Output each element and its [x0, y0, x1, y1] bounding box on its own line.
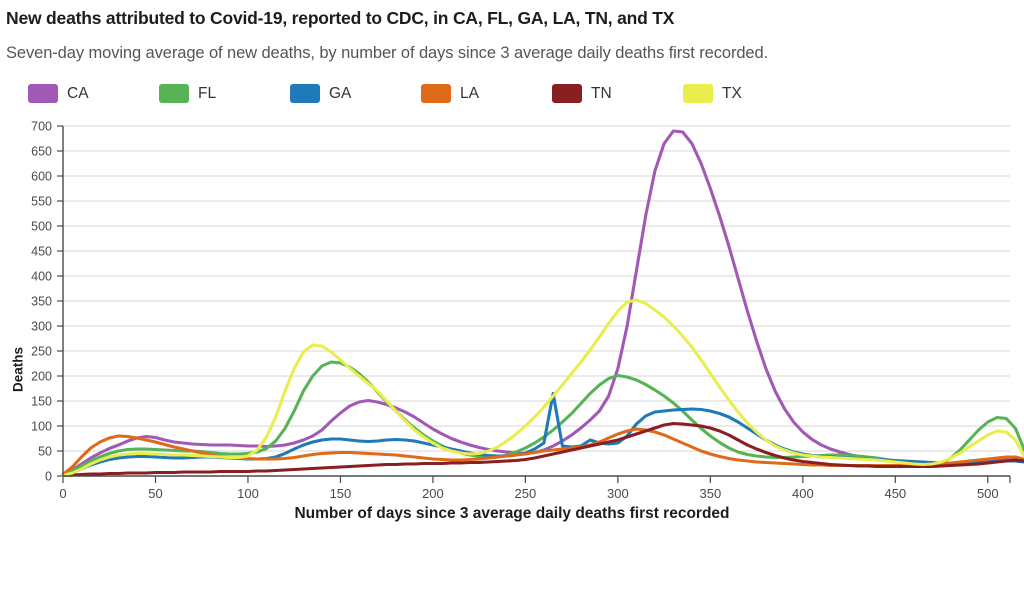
legend-item-tn[interactable]: TN	[552, 84, 683, 103]
legend-swatch-icon	[683, 84, 713, 103]
legend-item-label: TN	[591, 85, 612, 103]
legend-item-label: CA	[67, 85, 89, 103]
line-chart: 0501001502002503003504004505005506006507…	[0, 110, 1024, 510]
legend-item-label: FL	[198, 85, 216, 103]
legend-item-ga[interactable]: GA	[290, 84, 421, 103]
x-tick-label: 350	[700, 486, 722, 501]
chart-page: New deaths attributed to Covid-19, repor…	[0, 0, 1024, 591]
y-tick-label: 100	[31, 420, 52, 434]
y-tick-label: 200	[31, 370, 52, 384]
y-tick-label: 50	[38, 445, 52, 459]
y-tick-label: 650	[31, 145, 52, 159]
y-tick-label: 300	[31, 320, 52, 334]
legend-item-label: LA	[460, 85, 479, 103]
y-tick-label: 600	[31, 170, 52, 184]
page-title: New deaths attributed to Covid-19, repor…	[6, 8, 674, 29]
y-tick-label: 400	[31, 270, 52, 284]
legend-item-tx[interactable]: TX	[683, 84, 814, 103]
y-axis-title: Deaths	[11, 330, 26, 410]
legend-swatch-icon	[159, 84, 189, 103]
legend-swatch-icon	[552, 84, 582, 103]
x-tick-label: 100	[237, 486, 259, 501]
x-axis-title: Number of days since 3 average daily dea…	[0, 505, 1024, 523]
x-tick-label: 50	[148, 486, 162, 501]
chart-legend: CAFLGALATNTX	[28, 84, 814, 103]
x-tick-label: 0	[59, 486, 66, 501]
legend-swatch-icon	[28, 84, 58, 103]
y-tick-label: 450	[31, 245, 52, 259]
x-tick-label: 500	[977, 486, 999, 501]
page-subtitle: Seven-day moving average of new deaths, …	[6, 44, 768, 63]
x-tick-label: 250	[515, 486, 537, 501]
x-tick-label: 300	[607, 486, 629, 501]
x-tick-label: 400	[792, 486, 814, 501]
y-tick-label: 0	[45, 470, 52, 484]
legend-item-la[interactable]: LA	[421, 84, 552, 103]
legend-swatch-icon	[421, 84, 451, 103]
plot-area: Deaths 050100150200250300350400450500550…	[0, 110, 1024, 510]
y-tick-label: 500	[31, 220, 52, 234]
legend-swatch-icon	[290, 84, 320, 103]
legend-item-label: TX	[722, 85, 742, 103]
legend-item-fl[interactable]: FL	[159, 84, 290, 103]
legend-item-label: GA	[329, 85, 351, 103]
y-tick-label: 250	[31, 345, 52, 359]
series-line-ca	[63, 131, 1024, 475]
x-tick-label: 450	[884, 486, 906, 501]
y-tick-label: 150	[31, 395, 52, 409]
x-tick-label: 150	[330, 486, 352, 501]
y-tick-label: 700	[31, 120, 52, 134]
x-tick-label: 200	[422, 486, 444, 501]
y-tick-label: 550	[31, 195, 52, 209]
y-tick-label: 350	[31, 295, 52, 309]
legend-item-ca[interactable]: CA	[28, 84, 159, 103]
